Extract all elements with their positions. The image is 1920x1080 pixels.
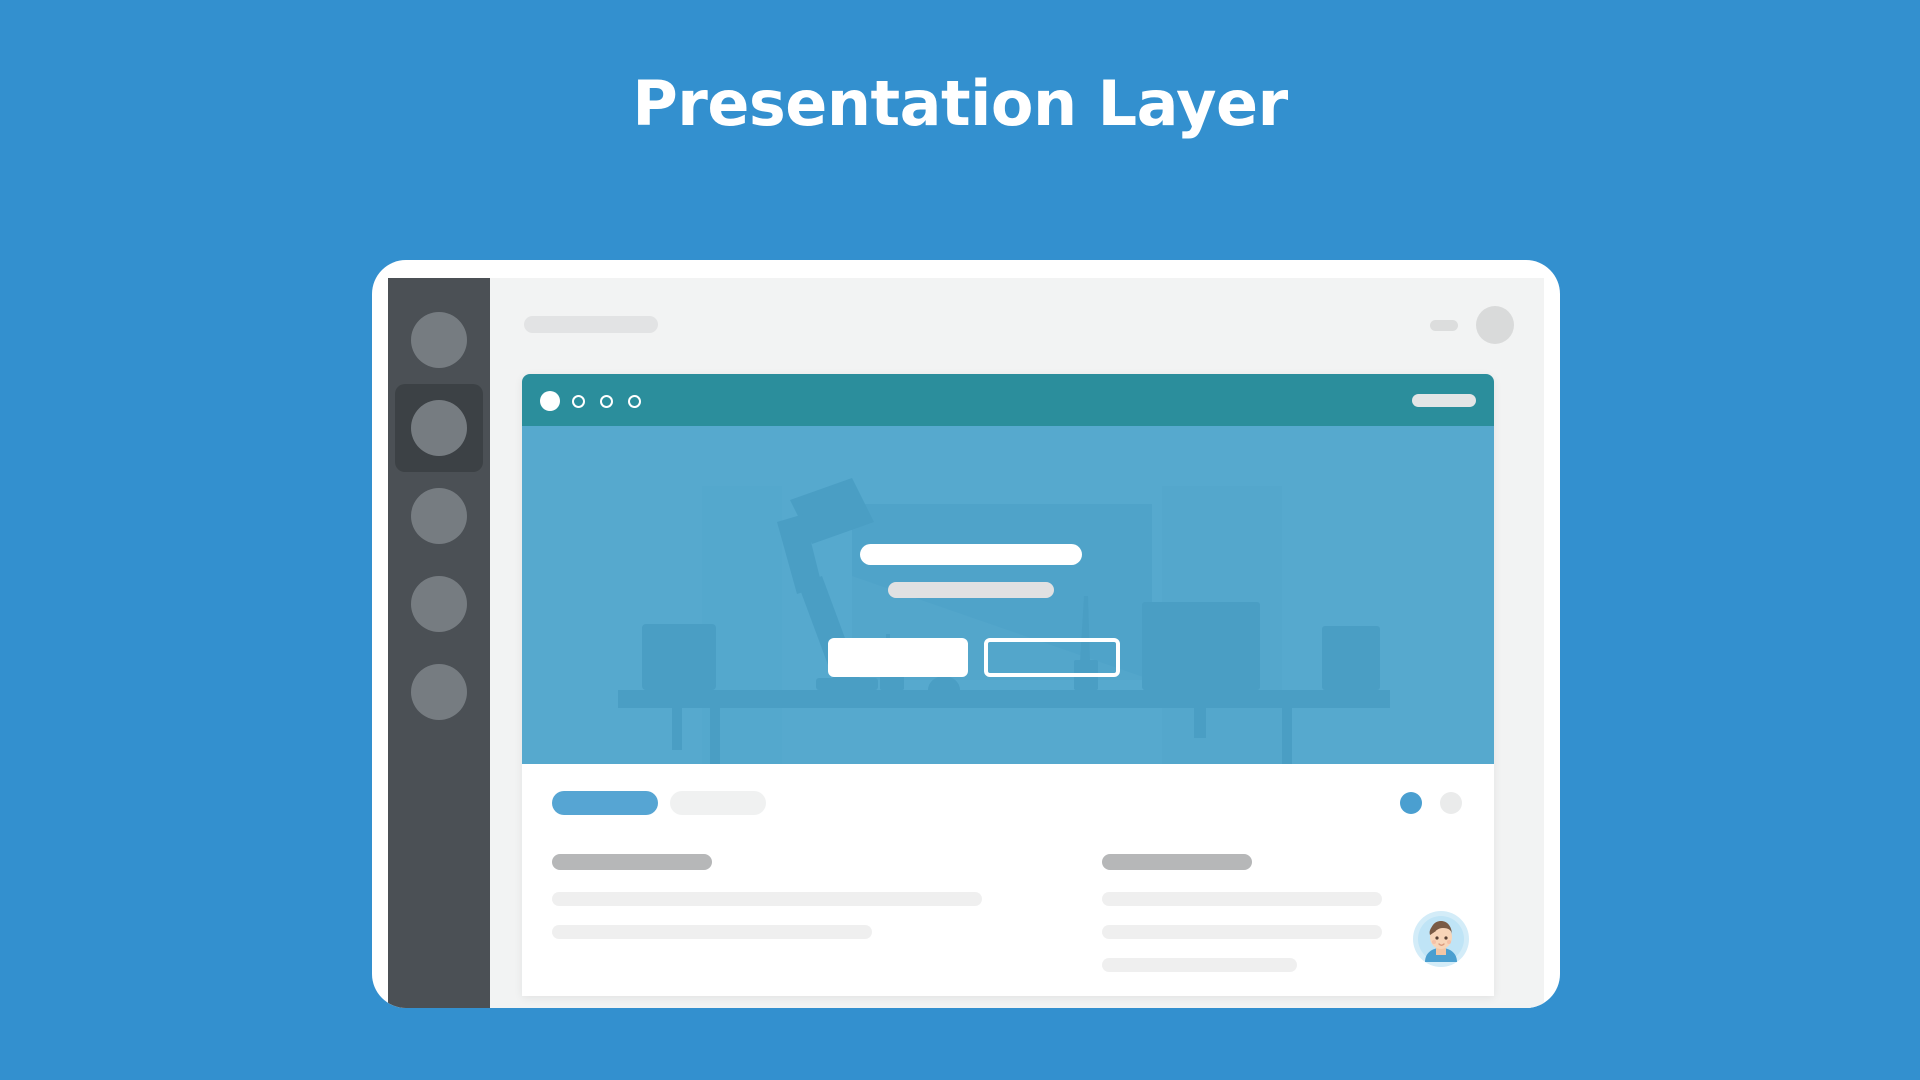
avatar[interactable] xyxy=(1476,306,1514,344)
hero-copy xyxy=(522,426,1494,764)
app-main-area xyxy=(490,278,1544,1008)
hero-headline xyxy=(860,544,1082,565)
sidebar-item-2[interactable] xyxy=(395,384,483,472)
column-heading xyxy=(1102,854,1252,870)
sidebar-item-3[interactable] xyxy=(395,472,483,560)
hero-section xyxy=(522,426,1494,764)
browser-content xyxy=(522,764,1494,996)
column-text-line xyxy=(552,925,872,939)
ring-circle-icon[interactable] xyxy=(572,395,585,408)
tablet-device-mockup xyxy=(372,260,1560,1008)
hero-secondary-button[interactable] xyxy=(984,638,1120,677)
content-column-right xyxy=(1102,854,1382,991)
content-tab-1[interactable] xyxy=(552,791,658,815)
column-heading xyxy=(552,854,712,870)
circle-icon xyxy=(411,576,467,632)
device-screen xyxy=(388,278,1544,1008)
page-title: Presentation Layer xyxy=(0,70,1920,138)
url-bar-placeholder[interactable] xyxy=(1412,394,1476,407)
column-text-line xyxy=(552,892,982,906)
circle-icon xyxy=(411,400,467,456)
content-column-left xyxy=(552,854,982,958)
content-tab-2[interactable] xyxy=(670,791,766,815)
column-text-line xyxy=(1102,925,1382,939)
hero-subheadline xyxy=(888,582,1054,598)
column-text-line xyxy=(1102,958,1297,972)
browser-titlebar xyxy=(522,374,1494,426)
app-title-placeholder xyxy=(524,316,658,333)
circle-icon xyxy=(411,312,467,368)
topbar-action-pill[interactable] xyxy=(1430,320,1458,331)
browser-window xyxy=(522,374,1494,996)
user-avatar-illustration[interactable] xyxy=(1410,908,1472,970)
sidebar-item-4[interactable] xyxy=(395,560,483,648)
app-topbar xyxy=(490,278,1544,366)
circle-icon xyxy=(411,488,467,544)
sidebar-item-5[interactable] xyxy=(395,648,483,736)
ring-circle-icon[interactable] xyxy=(628,395,641,408)
ring-circle-icon[interactable] xyxy=(600,395,613,408)
filled-circle-icon[interactable] xyxy=(540,391,560,411)
circle-icon xyxy=(411,664,467,720)
column-text-line xyxy=(1102,892,1382,906)
carousel-dot-active[interactable] xyxy=(1400,792,1422,814)
sidebar-item-1[interactable] xyxy=(395,296,483,384)
carousel-dot-inactive[interactable] xyxy=(1440,792,1462,814)
hero-primary-button[interactable] xyxy=(828,638,968,677)
app-sidebar xyxy=(388,278,490,1008)
